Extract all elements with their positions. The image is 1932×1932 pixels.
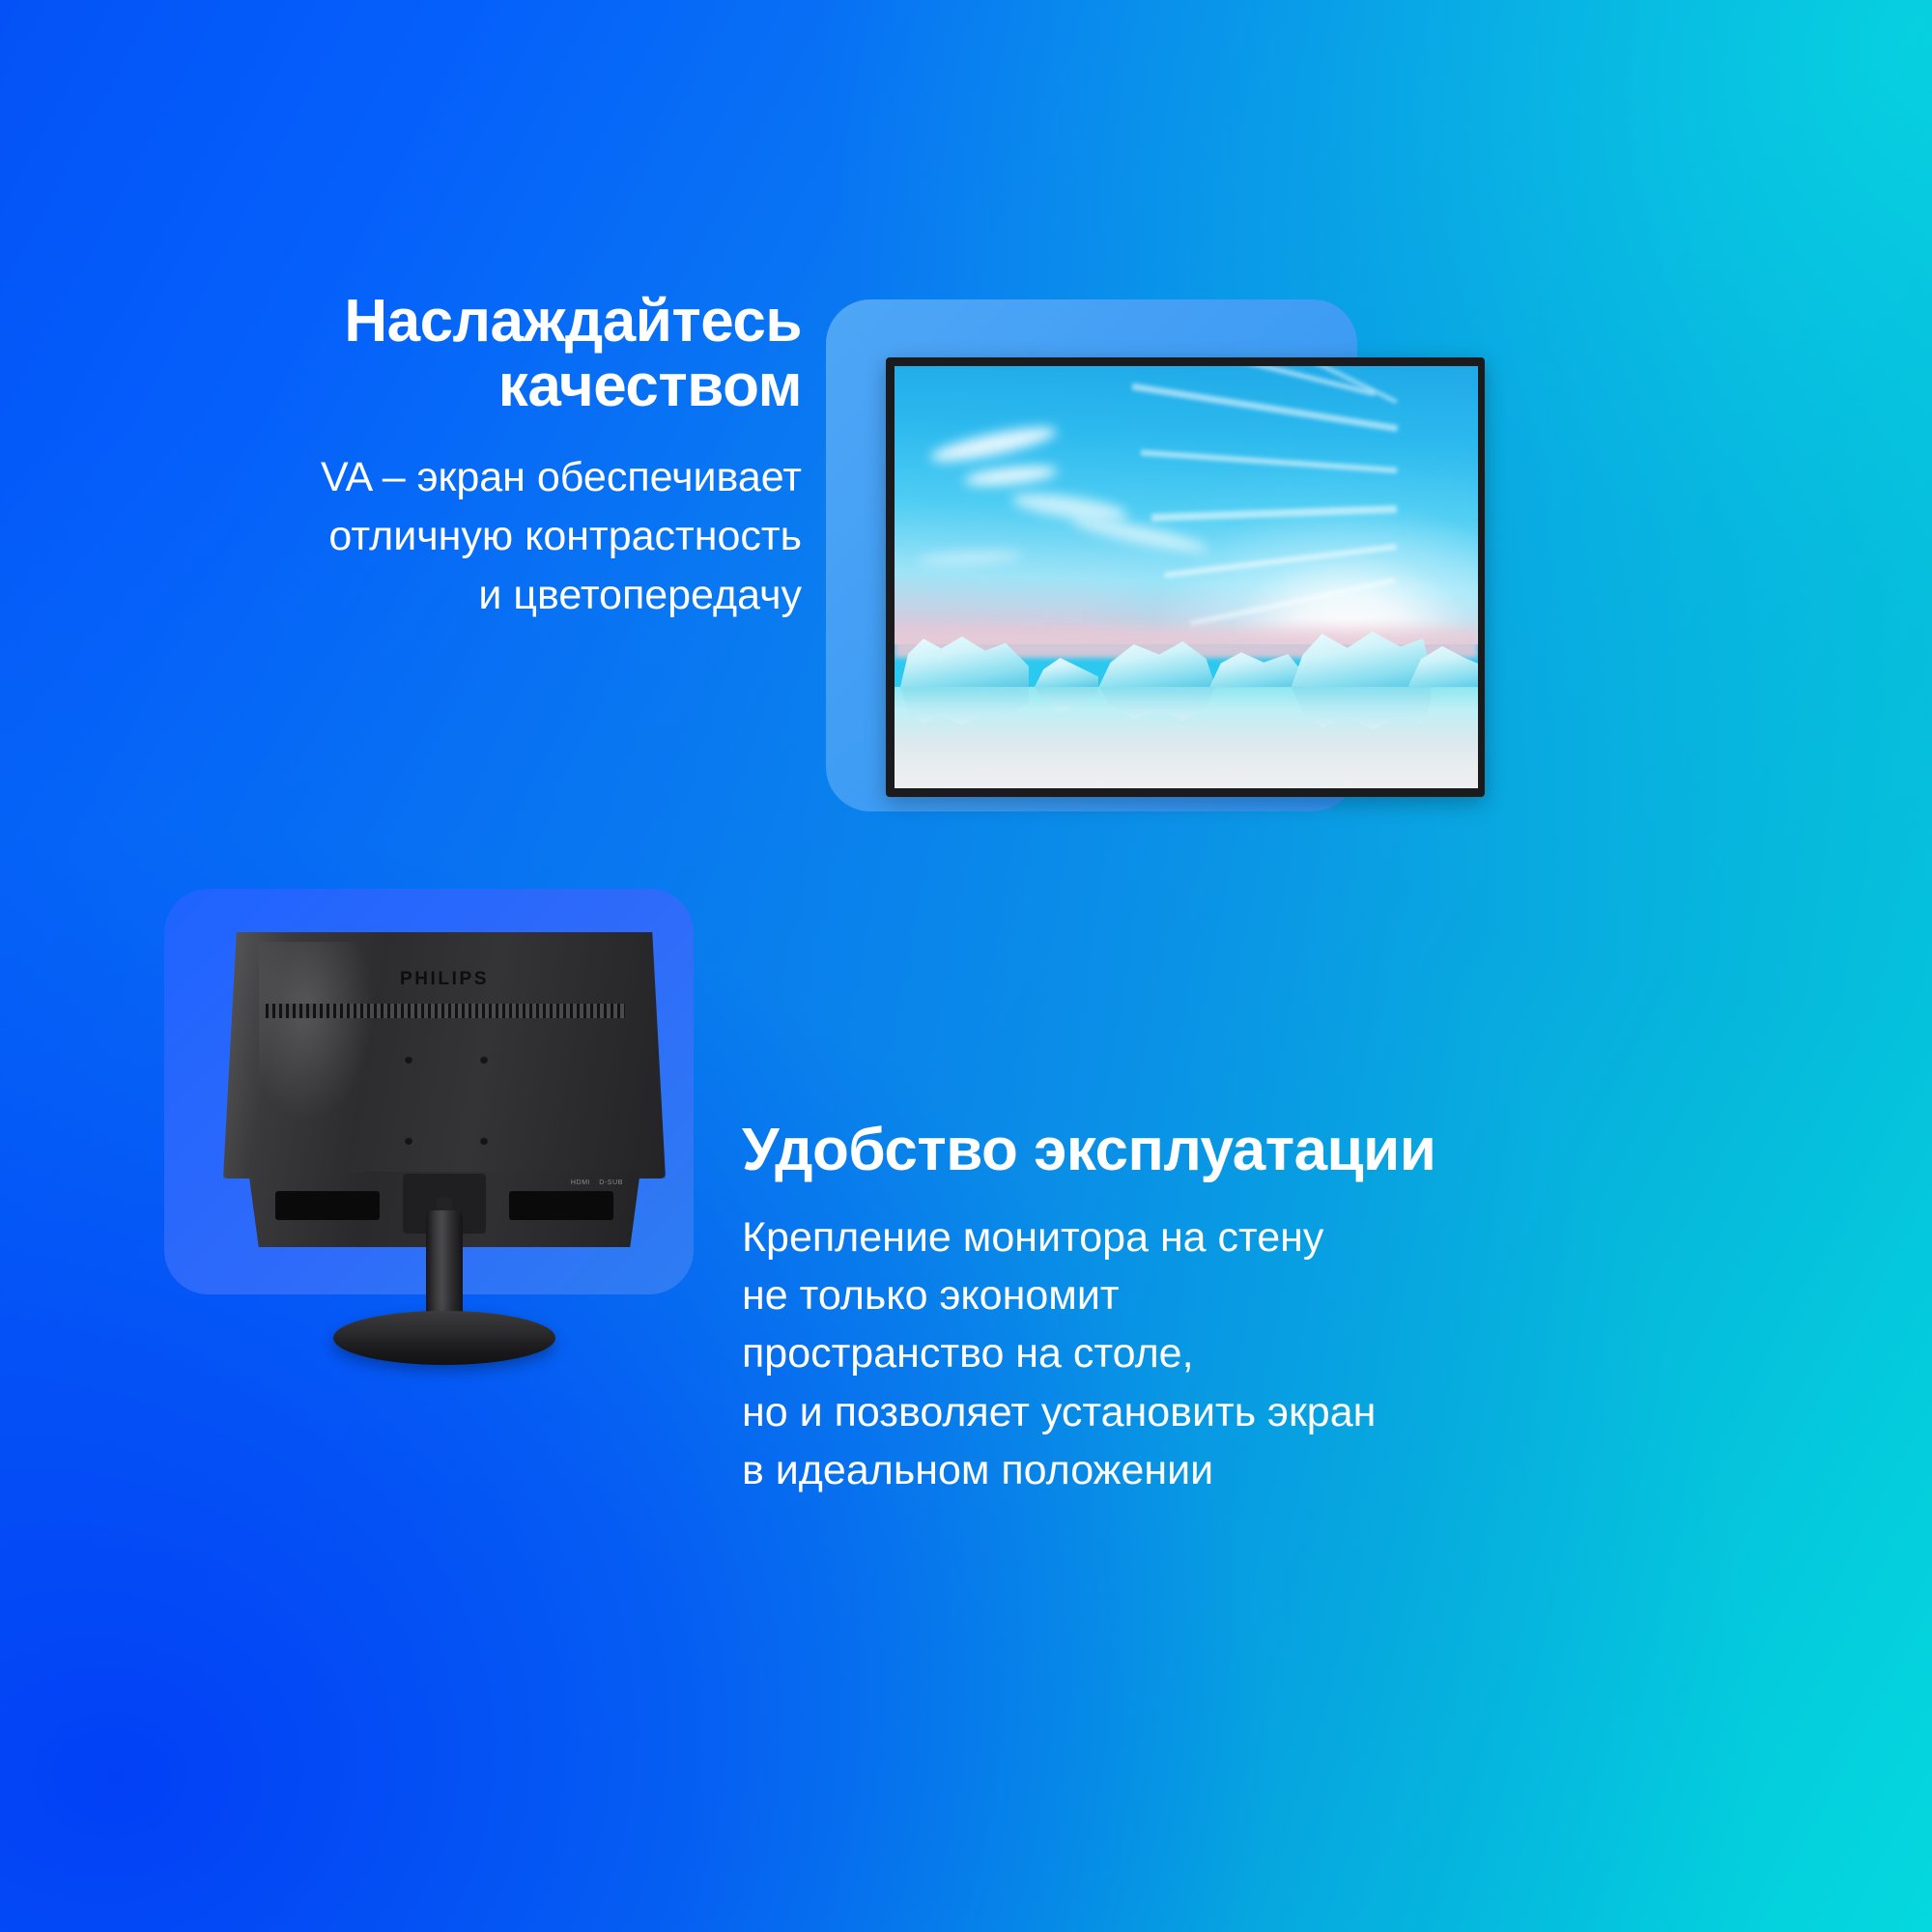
ventilation-grille [262,1004,625,1018]
monitor-back-card: PHILIPS HDMI D-SUB [164,889,694,1294]
monitor-front-card [826,299,1357,811]
convenience-text-block: Удобство эксплуатации Крепление монитора… [742,1119,1437,1499]
port-label-dsub: D-SUB [599,1179,623,1186]
port-label-hdmi: HDMI [571,1179,590,1186]
screen-wallpaper-iceberg-lagoon [895,366,1478,788]
stand-neck [426,1210,463,1326]
iceberg-shape [1035,653,1098,687]
section-convenience: PHILIPS HDMI D-SUB Удобство эк [0,869,1932,1932]
quality-body-text: VA – экран обеспечивает отличную контрас… [222,448,802,625]
monitor-front-view [886,357,1485,797]
monitor-rear-panel: PHILIPS [223,932,666,1179]
vesa-mount-dot [480,1056,488,1064]
quality-text-block: Наслаждайтесь качеством VA – экран обесп… [222,290,802,625]
monitor-rear-view: PHILIPS HDMI D-SUB [217,932,671,1299]
quality-heading: Наслаждайтесь качеством [222,290,802,419]
convenience-heading: Удобство эксплуатации [742,1119,1437,1183]
vesa-mount-dot [405,1137,412,1145]
convenience-body-text: Крепление монитора на стену не только эк… [742,1208,1437,1499]
stand-base [333,1311,555,1365]
vesa-mount-dot [405,1056,412,1064]
section-quality: Наслаждайтесь качеством VA – экран обесп… [0,0,1932,869]
port-label-group: HDMI D-SUB [571,1179,623,1186]
cable-cutout-right [509,1191,613,1220]
cable-cutout-left [275,1191,380,1220]
vesa-mount-dot [480,1137,488,1145]
philips-brand-logo: PHILIPS [223,969,666,990]
